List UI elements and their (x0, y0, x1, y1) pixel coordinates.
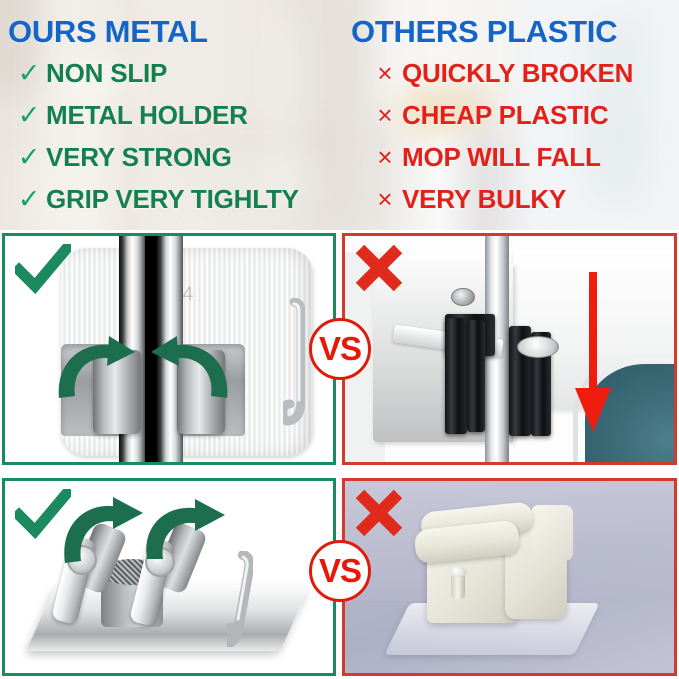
comparison-infographic: OURS METAL ✓ NON SLIP ✓ METAL HOLDER ✓ V… (0, 0, 679, 679)
ours-feature-label: METAL HOLDER (46, 100, 248, 131)
header-banner: OURS METAL ✓ NON SLIP ✓ METAL HOLDER ✓ V… (0, 0, 679, 230)
ours-feature-label: GRIP VERY TIGHLTY (46, 184, 299, 215)
check-mark-badge (15, 244, 71, 294)
panel-others-bottom (342, 478, 677, 676)
ours-title: OURS METAL (8, 14, 208, 50)
ours-feature-item: ✓ GRIP VERY TIGHLTY (12, 184, 352, 226)
cross-icon: × (368, 58, 402, 89)
others-feature-item: × VERY BULKY (368, 184, 679, 226)
vs-badge-top: VS (309, 318, 371, 380)
cross-icon: × (368, 142, 402, 173)
others-feature-item: × QUICKLY BROKEN (368, 58, 679, 100)
cross-icon: × (368, 100, 402, 131)
steel-hook-icon (283, 298, 305, 430)
others-feature-item: × CHEAP PLASTIC (368, 100, 679, 142)
panel-ours-bottom (2, 478, 336, 676)
ours-column: OURS METAL ✓ NON SLIP ✓ METAL HOLDER ✓ V… (0, 0, 340, 230)
others-feature-item: × MOP WILL FALL (368, 142, 679, 184)
panel-ours-top: 04 (2, 233, 336, 465)
ours-feature-item: ✓ VERY STRONG (12, 142, 352, 184)
others-feature-list: × QUICKLY BROKEN × CHEAP PLASTIC × MOP W… (340, 58, 679, 226)
others-feature-label: QUICKLY BROKEN (402, 58, 633, 89)
check-icon: ✓ (12, 100, 46, 131)
others-feature-label: VERY BULKY (402, 184, 566, 215)
rotation-arrow-icon (151, 334, 237, 408)
others-feature-label: MOP WILL FALL (402, 142, 601, 173)
others-title: OTHERS PLASTIC (351, 14, 617, 50)
ours-feature-list: ✓ NON SLIP ✓ METAL HOLDER ✓ VERY STRONG … (0, 58, 352, 226)
ours-feature-item: ✓ NON SLIP (12, 58, 352, 100)
rotation-arrow-icon (139, 497, 225, 573)
down-arrow-icon (573, 272, 613, 436)
x-mark-badge (353, 487, 405, 539)
ours-feature-label: NON SLIP (46, 58, 167, 89)
steel-hook-icon (227, 551, 253, 647)
x-mark-badge (353, 242, 405, 294)
others-column: OTHERS PLASTIC × QUICKLY BROKEN × CHEAP … (340, 0, 679, 230)
rotation-arrow-icon (49, 334, 135, 408)
vs-badge-bottom: VS (309, 540, 371, 602)
check-icon: ✓ (12, 184, 46, 215)
panel-others-top (342, 233, 677, 465)
check-icon: ✓ (12, 58, 46, 89)
cross-icon: × (368, 184, 402, 215)
check-mark-badge (15, 489, 71, 539)
ours-feature-item: ✓ METAL HOLDER (12, 100, 352, 142)
others-feature-label: CHEAP PLASTIC (402, 100, 608, 131)
ours-feature-label: VERY STRONG (46, 142, 232, 173)
check-icon: ✓ (12, 142, 46, 173)
